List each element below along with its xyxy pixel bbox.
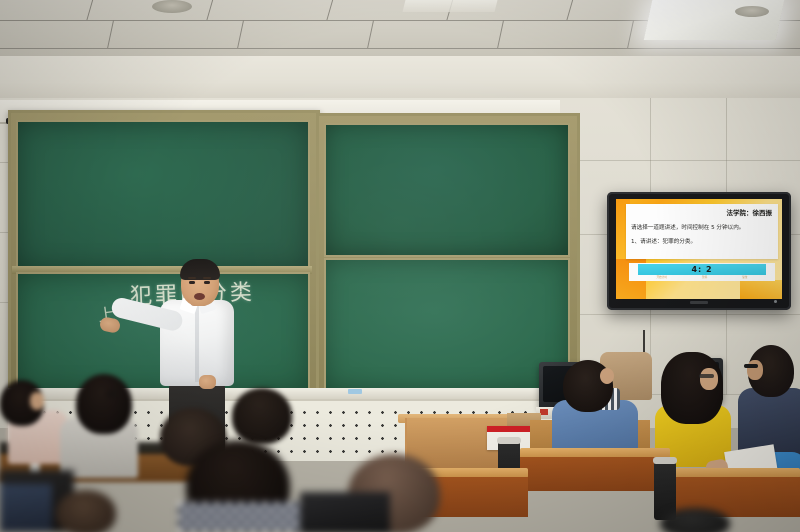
slide-question-line: 1、请讲述：犯罪的分类。 <box>631 237 696 245</box>
mans-eyeglasses-icon <box>744 364 758 368</box>
slide-content-card: 法学院：徐西振 请选择一道题讲述，时间控制在 5 分钟以内。 1、请讲述：犯罪的… <box>626 204 778 259</box>
ceiling-speaker-secondary-icon <box>735 6 769 17</box>
lecturer-eye-left <box>189 281 195 284</box>
tv-power-led-icon <box>774 300 777 303</box>
ceiling-soffit <box>0 56 800 101</box>
lecturer-eye-right <box>204 281 210 284</box>
fg-pink-face <box>30 392 44 410</box>
lecturer-eyebrow-right <box>203 277 211 279</box>
timer-caption-start: 开始计时 <box>657 275 667 280</box>
slide-instruction-line: 请选择一道题讲述，时间控制在 5 分钟以内。 <box>631 223 744 231</box>
lecturer-eyebrow-left <box>188 277 196 279</box>
lecturer-hair <box>180 259 220 280</box>
ceiling <box>0 0 800 62</box>
blackboard-left-upper-panel <box>16 120 310 272</box>
tv-screen[interactable]: 法学院：徐西振 请选择一道题讲述，时间控制在 5 分钟以内。 1、请讲述：犯罪的… <box>616 199 782 299</box>
lecturer-shirt-placket <box>195 302 199 382</box>
ceiling-light-panel-right <box>644 0 785 40</box>
lecturer-mouth <box>194 293 205 300</box>
hair-bun-icon <box>106 390 118 398</box>
man-suit-face <box>747 360 763 380</box>
checkered-shirt <box>178 502 308 532</box>
lecture-hall-photo: 犯罪的分类 上 法学院：徐西振 请选择一道题讲述，时间控制在 5 分钟以内。 1… <box>0 0 800 532</box>
timer-control-captions: 开始计时 暂停 复位 <box>639 275 765 280</box>
timer-caption-reset: 复位 <box>742 275 747 280</box>
foreground-audience-front <box>0 430 800 532</box>
countdown-timer-value: 4: 2 <box>691 265 712 274</box>
eyeglasses-icon <box>699 374 714 378</box>
fg-shoulders-centre <box>300 492 390 532</box>
slide-title: 法学院：徐西振 <box>727 207 773 217</box>
tv-brand-logo <box>690 301 708 304</box>
blackboard-right-lower-panel <box>324 258 570 392</box>
countdown-timer-bar: 4: 2 <box>638 264 766 275</box>
fg-head-lower-left <box>56 490 116 532</box>
slide-timer-strip: 4: 2 开始计时 暂停 复位 <box>629 263 775 281</box>
ceiling-light-panel-left <box>403 0 498 12</box>
slide-accent-bottom-right <box>740 280 782 299</box>
fg-head-right <box>660 508 730 532</box>
fg-far-left-person <box>0 484 52 532</box>
ceiling-speaker-icon <box>152 0 192 13</box>
timer-caption-pause: 暂停 <box>702 275 707 280</box>
fg-grey-hair <box>76 374 132 434</box>
blackboard-right-upper-panel <box>324 123 570 257</box>
